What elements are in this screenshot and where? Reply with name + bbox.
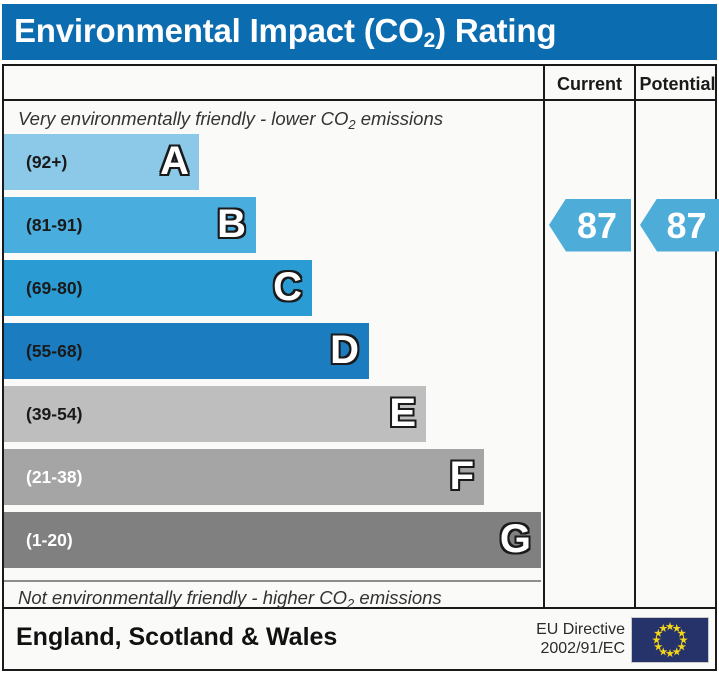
band-row-b: (81-91) B	[4, 197, 256, 253]
eu-directive-label: EU Directive 2002/91/EC	[536, 620, 625, 658]
band-letter-c: C	[273, 260, 302, 316]
caption-top-subscript: 2	[348, 117, 355, 132]
page-title-suffix: ) Rating	[435, 12, 556, 49]
band-row-a: (92+) A	[4, 134, 199, 190]
band-range-f: (21-38)	[26, 449, 82, 505]
band-range-a: (92+)	[26, 134, 67, 190]
chart-title-bar: Environmental Impact (CO2) Rating	[2, 4, 717, 60]
eu-flag-star-icon	[679, 636, 688, 645]
caption-bottom-suffix: emissions	[354, 587, 441, 608]
eu-flag-star-icon	[659, 624, 668, 633]
band-range-d: (55-68)	[26, 323, 82, 379]
footer-region-label: England, Scotland & Wales	[16, 623, 337, 652]
band-row-g: (1-20) G	[4, 512, 541, 568]
band-range-g: (1-20)	[26, 512, 73, 568]
caption-bottom-divider	[4, 580, 541, 582]
band-row-f: (21-38) F	[4, 449, 484, 505]
caption-top: Very environmentally friendly - lower CO…	[18, 107, 443, 131]
caption-top-suffix: emissions	[356, 108, 443, 129]
band-letter-e: E	[389, 386, 416, 442]
epc-environmental-impact-chart: Environmental Impact (CO2) Rating Curren…	[0, 0, 719, 675]
page-title-subscript: 2	[424, 29, 435, 52]
potential-rating-marker: 87	[640, 199, 719, 252]
eu-directive-line1: EU Directive	[536, 620, 625, 639]
column-header-current: Current	[545, 73, 634, 95]
band-range-c: (69-80)	[26, 260, 82, 316]
eu-flag-star-icon	[666, 622, 675, 631]
band-row-d: (55-68) D	[4, 323, 369, 379]
band-letter-a: A	[160, 134, 189, 190]
eu-flag-icon	[631, 617, 709, 663]
column-divider-potential	[634, 66, 636, 607]
eu-flag-star-icon	[672, 624, 681, 633]
band-letter-f: F	[450, 449, 474, 505]
band-bars: (92+) A (81-91) B (69-80) C (55-68) D (3…	[4, 134, 541, 580]
current-rating-marker: 87	[549, 199, 631, 252]
table-header-divider	[4, 99, 715, 101]
page-title-prefix: Environmental Impact (CO	[14, 12, 424, 49]
chart-footer: England, Scotland & Wales EU Directive 2…	[2, 609, 717, 671]
band-range-b: (81-91)	[26, 197, 82, 253]
caption-top-prefix: Very environmentally friendly - lower CO	[18, 108, 348, 129]
page-title: Environmental Impact (CO2) Rating	[14, 12, 556, 50]
eu-directive-line2: 2002/91/EC	[536, 639, 625, 658]
band-letter-b: B	[217, 197, 246, 253]
band-letter-d: D	[330, 323, 359, 379]
band-row-c: (69-80) C	[4, 260, 312, 316]
column-header-potential: Potential	[636, 73, 719, 95]
band-range-e: (39-54)	[26, 386, 82, 442]
ratings-table: Current Potential Very environmentally f…	[2, 64, 717, 609]
eu-flag-star-icon	[677, 642, 686, 651]
eu-flag-star-icon	[654, 642, 663, 651]
caption-bottom: Not environmentally friendly - higher CO…	[18, 586, 442, 610]
eu-flag-star-icon	[652, 636, 661, 645]
band-row-e: (39-54) E	[4, 386, 426, 442]
column-divider-current	[543, 66, 545, 607]
caption-bottom-prefix: Not environmentally friendly - higher CO	[18, 587, 347, 608]
band-letter-g: G	[500, 512, 531, 568]
